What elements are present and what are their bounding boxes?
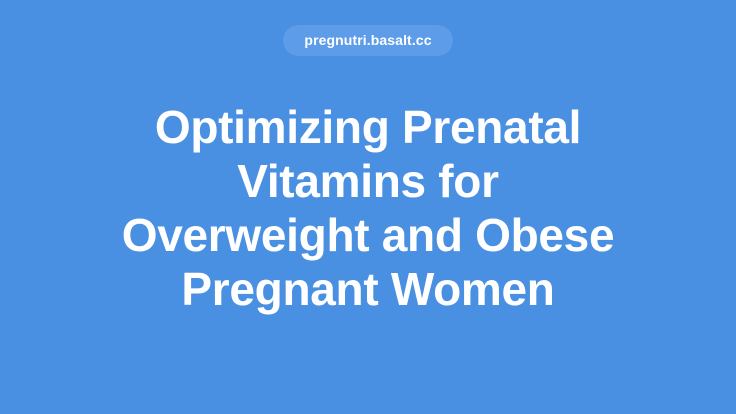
title-card: pregnutri.basalt.cc Optimizing Prenatal … bbox=[0, 0, 736, 414]
badge-row: pregnutri.basalt.cc bbox=[0, 25, 736, 56]
headline-container: Optimizing Prenatal Vitamins for Overwei… bbox=[0, 56, 736, 414]
title-line-1: Optimizing Prenatal bbox=[122, 100, 614, 154]
title-line-3: Overweight and Obese bbox=[122, 208, 614, 262]
title-line-2: Vitamins for bbox=[122, 154, 614, 208]
title-line-4: Pregnant Women bbox=[122, 262, 614, 316]
site-domain-badge: pregnutri.basalt.cc bbox=[283, 25, 452, 56]
page-title: Optimizing Prenatal Vitamins for Overwei… bbox=[94, 100, 642, 316]
